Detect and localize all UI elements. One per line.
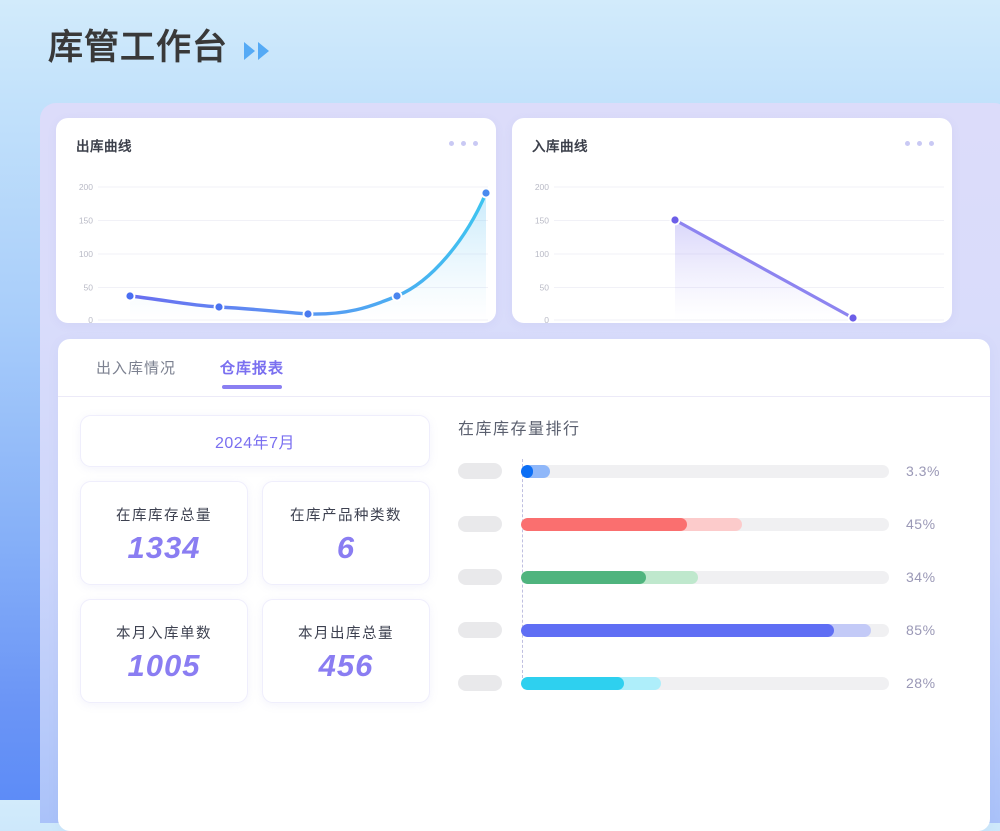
stat-label: 本月出库总量 [298, 622, 394, 643]
ranking-label-placeholder [458, 622, 502, 638]
ranking-row[interactable]: 45% [458, 516, 968, 532]
stat-label: 在库库存总量 [116, 504, 212, 525]
charts-row: 出库曲线 [56, 118, 952, 323]
stat-value: 6 [337, 532, 355, 563]
svg-text:100: 100 [535, 249, 549, 259]
triangle-right-icon-1 [244, 42, 255, 60]
y-axis-tick-labels: 200 150 100 50 0 [535, 182, 549, 323]
ranking-label-placeholder [458, 516, 502, 532]
report-content-card: 出入库情况 仓库报表 2024年7月 在库库存总量 1334 在库产品种类数 6 [58, 339, 990, 831]
ranking-row[interactable]: 3.3% [458, 463, 968, 479]
outbound-chart-plot: 200 150 100 50 0 [56, 160, 496, 323]
dashboard-panel: 出库曲线 [40, 103, 1000, 823]
ranking-bar-track [521, 465, 889, 478]
ranking-bar-dark [521, 571, 646, 584]
inbound-chart-card: 入库曲线 [512, 118, 952, 323]
more-dots-icon[interactable] [905, 141, 934, 146]
stats-row-2: 本月入库单数 1005 本月出库总量 456 [80, 599, 430, 703]
outbound-area-fill [130, 193, 486, 320]
selected-date-label: 2024年7月 [215, 429, 295, 453]
more-dots-icon[interactable] [449, 141, 478, 146]
outbound-line-chart-svg: 200 150 100 50 0 [56, 160, 496, 323]
stat-card-total-stock[interactable]: 在库库存总量 1334 [80, 481, 248, 585]
stat-card-month-inbound-orders[interactable]: 本月入库单数 1005 [80, 599, 248, 703]
app-header: 库管工作台 [48, 30, 269, 65]
outbound-chart-card: 出库曲线 [56, 118, 496, 323]
stat-label: 本月入库单数 [116, 622, 212, 643]
svg-text:150: 150 [535, 216, 549, 226]
svg-text:0: 0 [88, 315, 93, 323]
y-axis-tick-labels: 200 150 100 50 0 [79, 182, 93, 323]
page-title: 库管工作台 [48, 30, 228, 65]
ranking-bar-dark [521, 624, 834, 637]
stat-value: 1005 [128, 650, 201, 681]
ranking-row[interactable]: 34% [458, 569, 968, 585]
svg-text:0: 0 [544, 315, 549, 323]
stats-row-1: 在库库存总量 1334 在库产品种类数 6 [80, 481, 430, 585]
ranking-label-placeholder [458, 569, 502, 585]
outbound-chart-title: 出库曲线 [76, 135, 132, 155]
stats-column: 2024年7月 在库库存总量 1334 在库产品种类数 6 本月入库单数 100… [80, 415, 430, 717]
ranking-bar-track [521, 624, 889, 637]
ranking-percent: 3.3% [906, 463, 940, 479]
ranking-row[interactable]: 85% [458, 622, 968, 638]
stat-card-month-outbound-total[interactable]: 本月出库总量 456 [262, 599, 430, 703]
stat-label: 在库产品种类数 [290, 504, 402, 525]
inbound-chart-title: 入库曲线 [532, 135, 588, 155]
inventory-ranking-section: 在库库存量排行 3.3% 45% [458, 415, 968, 691]
ranking-bar-dark [521, 518, 687, 531]
ranking-row[interactable]: 28% [458, 675, 968, 691]
ranking-rows: 3.3% 45% 34% [458, 463, 968, 691]
ranking-bar-dark [521, 465, 533, 478]
tab-inbound-outbound[interactable]: 出入库情况 [96, 339, 176, 397]
date-selector-card[interactable]: 2024年7月 [80, 415, 430, 467]
inbound-chart-plot: 200 150 100 50 0 1月 2月 [512, 160, 952, 323]
stat-value: 1334 [128, 532, 201, 563]
ranking-bar-dark [521, 677, 624, 690]
double-triangle-right-icon[interactable] [244, 42, 269, 60]
inbound-line-chart-svg: 200 150 100 50 0 1月 2月 [512, 160, 952, 323]
ranking-percent: 45% [906, 516, 936, 532]
ranking-title: 在库库存量排行 [458, 415, 968, 439]
tab-bar: 出入库情况 仓库报表 [58, 339, 990, 397]
ranking-label-placeholder [458, 675, 502, 691]
svg-text:50: 50 [540, 283, 550, 293]
ranking-bar-track [521, 571, 889, 584]
triangle-right-icon-2 [258, 42, 269, 60]
ranking-percent: 34% [906, 569, 936, 585]
ranking-bar-track [521, 677, 889, 690]
tab-warehouse-report[interactable]: 仓库报表 [220, 339, 284, 397]
stat-value: 456 [319, 650, 374, 681]
ranking-bar-track [521, 518, 889, 531]
ranking-percent: 28% [906, 675, 936, 691]
ranking-percent: 85% [906, 622, 936, 638]
svg-text:150: 150 [79, 216, 93, 226]
svg-text:200: 200 [79, 182, 93, 192]
stat-card-product-kinds[interactable]: 在库产品种类数 6 [262, 481, 430, 585]
svg-text:50: 50 [84, 283, 94, 293]
svg-text:200: 200 [535, 182, 549, 192]
ranking-label-placeholder [458, 463, 502, 479]
svg-text:100: 100 [79, 249, 93, 259]
